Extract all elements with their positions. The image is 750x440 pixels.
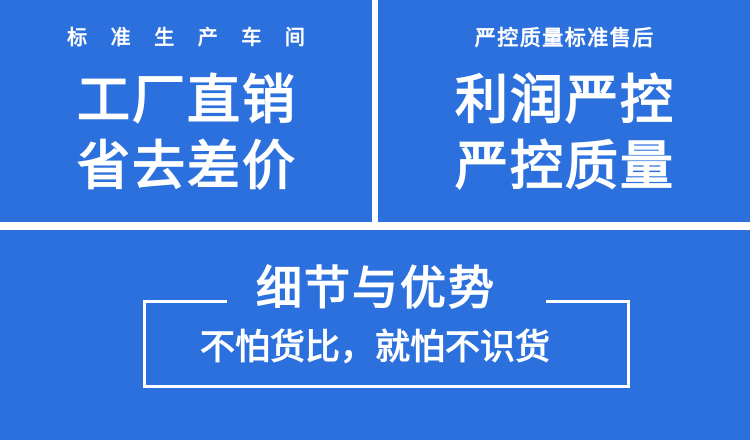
panel-quality-control-headline-line2: 严控质量	[378, 140, 750, 193]
panel-factory-direct-eyebrow: 标 准 生 产 车 间	[0, 28, 372, 48]
panel-quality-control-eyebrow: 严控质量标准售后	[378, 28, 750, 49]
details-subtitle: 不怕货比，就怕不识货	[0, 330, 750, 365]
panel-details-advantages: 细节与优势 不怕货比，就怕不识货	[0, 230, 750, 440]
panel-quality-control-headline-line1: 利润严控	[378, 74, 750, 127]
panel-factory-direct-headline-line1: 工厂直销	[0, 74, 372, 127]
panel-factory-direct-headline-line2: 省去差价	[0, 140, 372, 193]
promo-banner: 标 准 生 产 车 间 工厂直销 省去差价 严控质量标准售后 利润严控 严控质量…	[0, 0, 750, 440]
details-title: 细节与优势	[0, 265, 750, 311]
panel-factory-direct: 标 准 生 产 车 间 工厂直销 省去差价	[0, 0, 372, 222]
panel-quality-control: 严控质量标准售后 利润严控 严控质量	[378, 0, 750, 222]
